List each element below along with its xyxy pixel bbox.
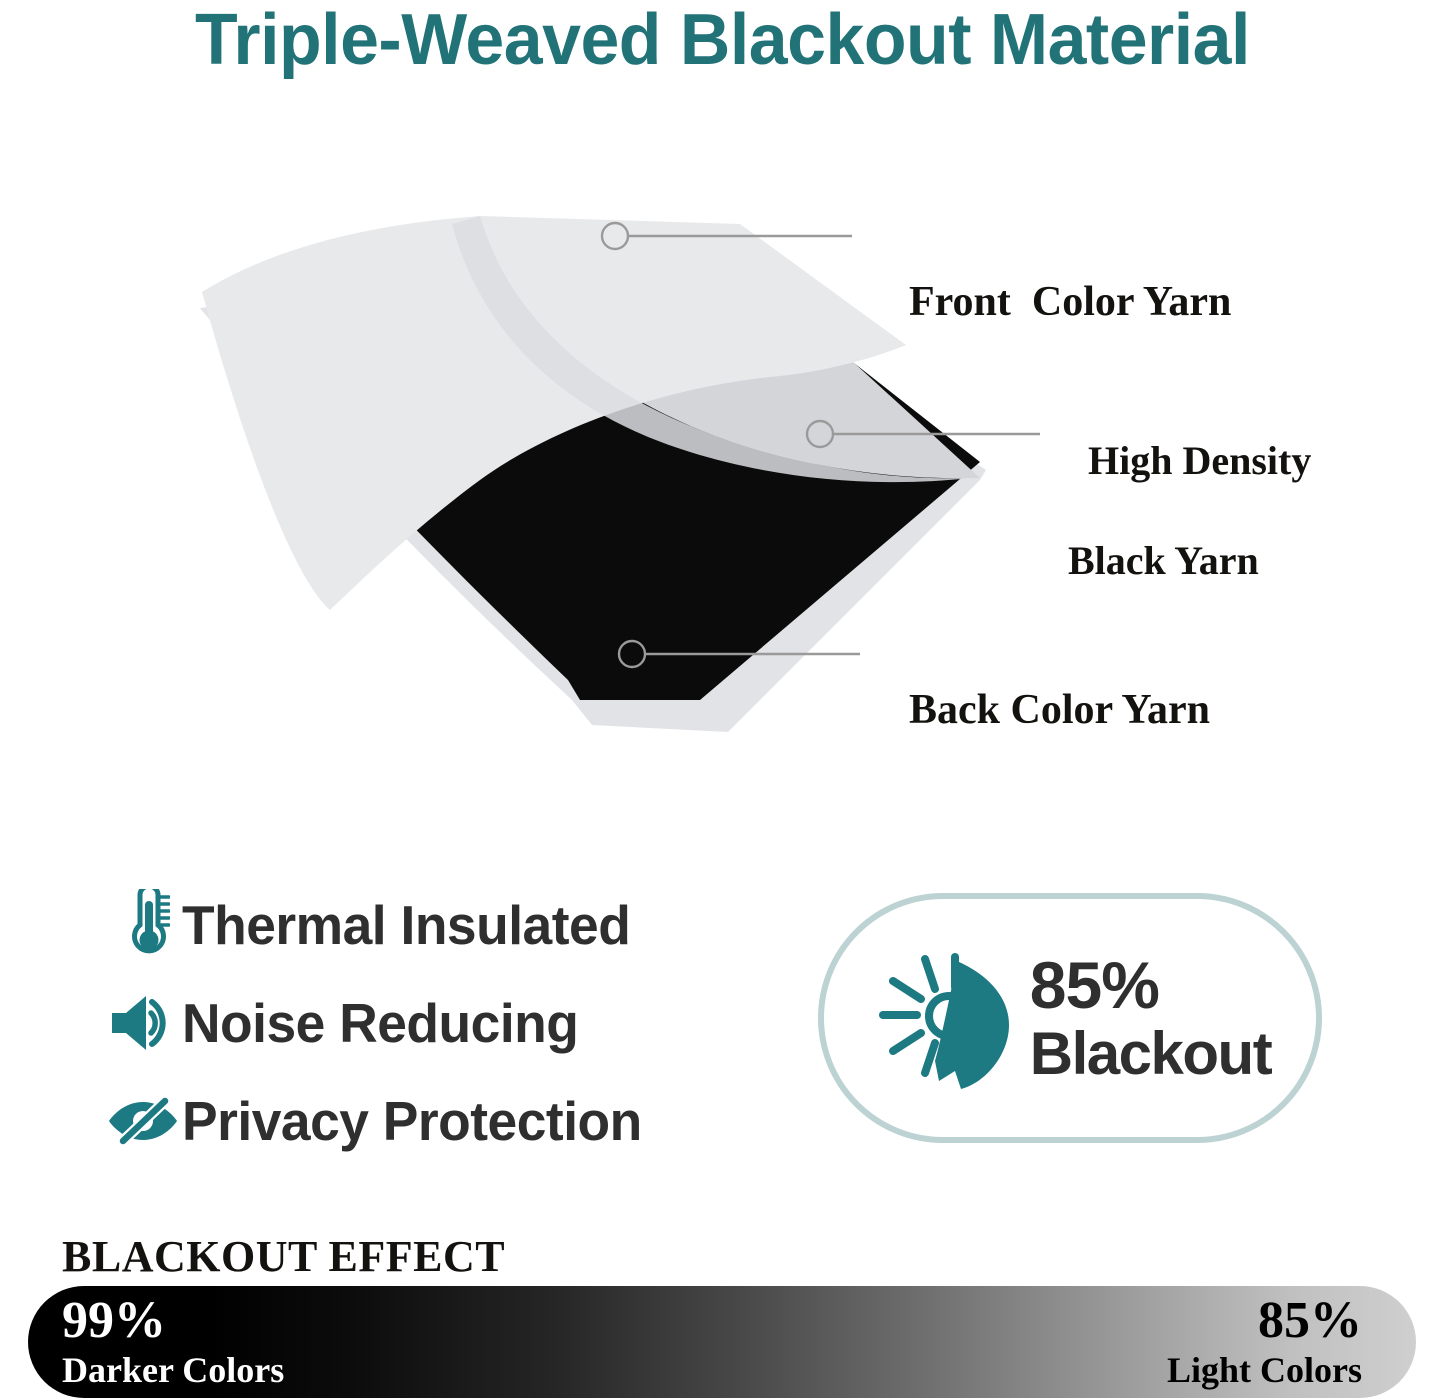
thermometer-icon [104, 888, 182, 962]
bar-right-percent: 85% [1258, 1294, 1362, 1348]
feature-list: Thermal Insulated Noise Reducing [104, 880, 744, 1174]
blackout-effect-gradient-bar: 99% Darker Colors 85% Light Colors [28, 1286, 1416, 1398]
badge-text: 85% Blackout [1030, 952, 1271, 1084]
callout-high-line1: High Density [1088, 438, 1311, 483]
callout-label-back: Back Color Yarn [888, 632, 1210, 736]
feature-noise-reducing: Noise Reducing [104, 978, 744, 1068]
callout-label-high-density: High Density Black Yarn [1068, 386, 1311, 636]
feature-privacy-protection: Privacy Protection [104, 1076, 744, 1166]
bar-left-caption: Darker Colors [62, 1350, 284, 1390]
badge-word: Blackout [1030, 1024, 1271, 1084]
feature-thermal-insulated: Thermal Insulated [104, 880, 744, 970]
feature-label-thermal-insulated: Thermal Insulated [182, 895, 630, 955]
feature-label-privacy-protection: Privacy Protection [182, 1091, 642, 1151]
blocking-shape [935, 961, 1009, 1089]
feature-label-noise-reducing: Noise Reducing [182, 993, 578, 1053]
bar-left-percent: 99% [62, 1294, 166, 1348]
blackout-percentage-badge: 85% Blackout [818, 893, 1322, 1143]
blackout-effect-title: BLACKOUT EFFECT [62, 1233, 505, 1281]
eye-slash-icon [104, 1084, 182, 1158]
badge-percent: 85% [1030, 952, 1271, 1018]
speaker-sound-icon [104, 986, 182, 1060]
callout-back-text: Back Color Yarn [909, 687, 1210, 733]
callout-front-text: Front Color Yarn [909, 279, 1231, 325]
bar-right-stat: 85% Light Colors [1167, 1286, 1362, 1398]
bar-left-stat: 99% Darker Colors [62, 1286, 284, 1398]
sun-blocked-icon [869, 943, 1014, 1093]
callout-label-front: Front Color Yarn [888, 224, 1231, 328]
callout-high-line2: Black Yarn [1068, 536, 1311, 586]
page-title: Triple-Weaved Blackout Material [22, 0, 1424, 82]
bar-right-caption: Light Colors [1167, 1350, 1362, 1390]
